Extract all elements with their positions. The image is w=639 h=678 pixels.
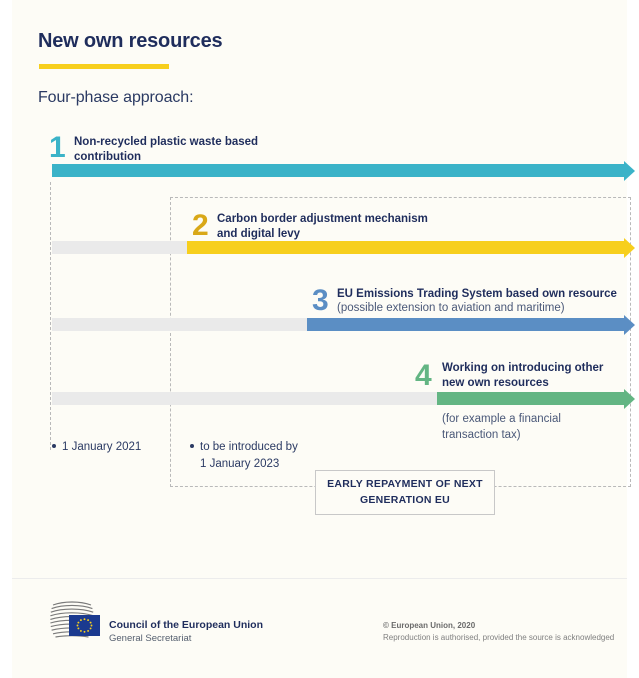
phase-3-sublabel: (possible extension to aviation and mari… [337, 301, 627, 316]
phase-2-arrowhead [624, 238, 635, 258]
phase-3-track [52, 318, 307, 331]
date-label-1: 1 January 2021 [62, 439, 141, 456]
phase-4-number: 4 [415, 361, 432, 391]
phase-2-bar [187, 241, 624, 254]
date-label-2-line2: 1 January 2023 [200, 456, 320, 473]
phase-1-arrowhead [624, 161, 635, 181]
phase-3-number: 3 [312, 286, 329, 316]
footer-divider [12, 578, 627, 579]
phase-3-bar [307, 318, 624, 331]
phase-2-label: Carbon border adjustment mechanism and d… [217, 212, 432, 242]
council-organisation-name: Council of the European Union [109, 619, 263, 631]
date-label-2: to be introduced by 1 January 2023 [200, 439, 320, 472]
phase-1-number: 1 [49, 133, 66, 163]
title-underline [39, 64, 169, 69]
phase-4-note: (for example a financial transaction tax… [442, 412, 602, 444]
bullet-icon [52, 444, 56, 448]
phase-2-track [52, 241, 187, 254]
date-label-1-line1: 1 January 2021 [62, 441, 141, 453]
copyright-notice: © European Union, 2020 [383, 621, 475, 630]
phase-4-track [52, 392, 437, 405]
bullet-icon [190, 444, 194, 448]
page-subtitle: Four-phase approach: [38, 89, 193, 107]
reproduction-notice: Reproduction is authorised, provided the… [383, 633, 614, 642]
council-logo-icon [50, 600, 106, 640]
date-label-2-line1: to be introduced by [200, 439, 320, 456]
phase-3-arrowhead [624, 315, 635, 335]
early-repayment-line1: EARLY REPAYMENT OF NEXT [327, 477, 483, 492]
council-department: General Secretariat [109, 633, 191, 644]
phase-4-label: Working on introducing other new own res… [442, 361, 617, 391]
page-title: New own resources [38, 30, 222, 53]
phase-1-label: Non-recycled plastic waste based contrib… [74, 135, 304, 165]
phase-4-bar [437, 392, 624, 405]
early-repayment-box: EARLY REPAYMENT OF NEXT GENERATION EU [315, 470, 495, 515]
phase-4-arrowhead [624, 389, 635, 409]
phase-1-bar [52, 164, 624, 177]
dashed-guideline-left [50, 182, 51, 450]
infographic-page: New own resources Four-phase approach: 1… [12, 0, 627, 678]
phase-2-number: 2 [192, 211, 209, 241]
early-repayment-line2: GENERATION EU [327, 493, 483, 508]
phase-3-label: EU Emissions Trading System based own re… [337, 287, 627, 302]
